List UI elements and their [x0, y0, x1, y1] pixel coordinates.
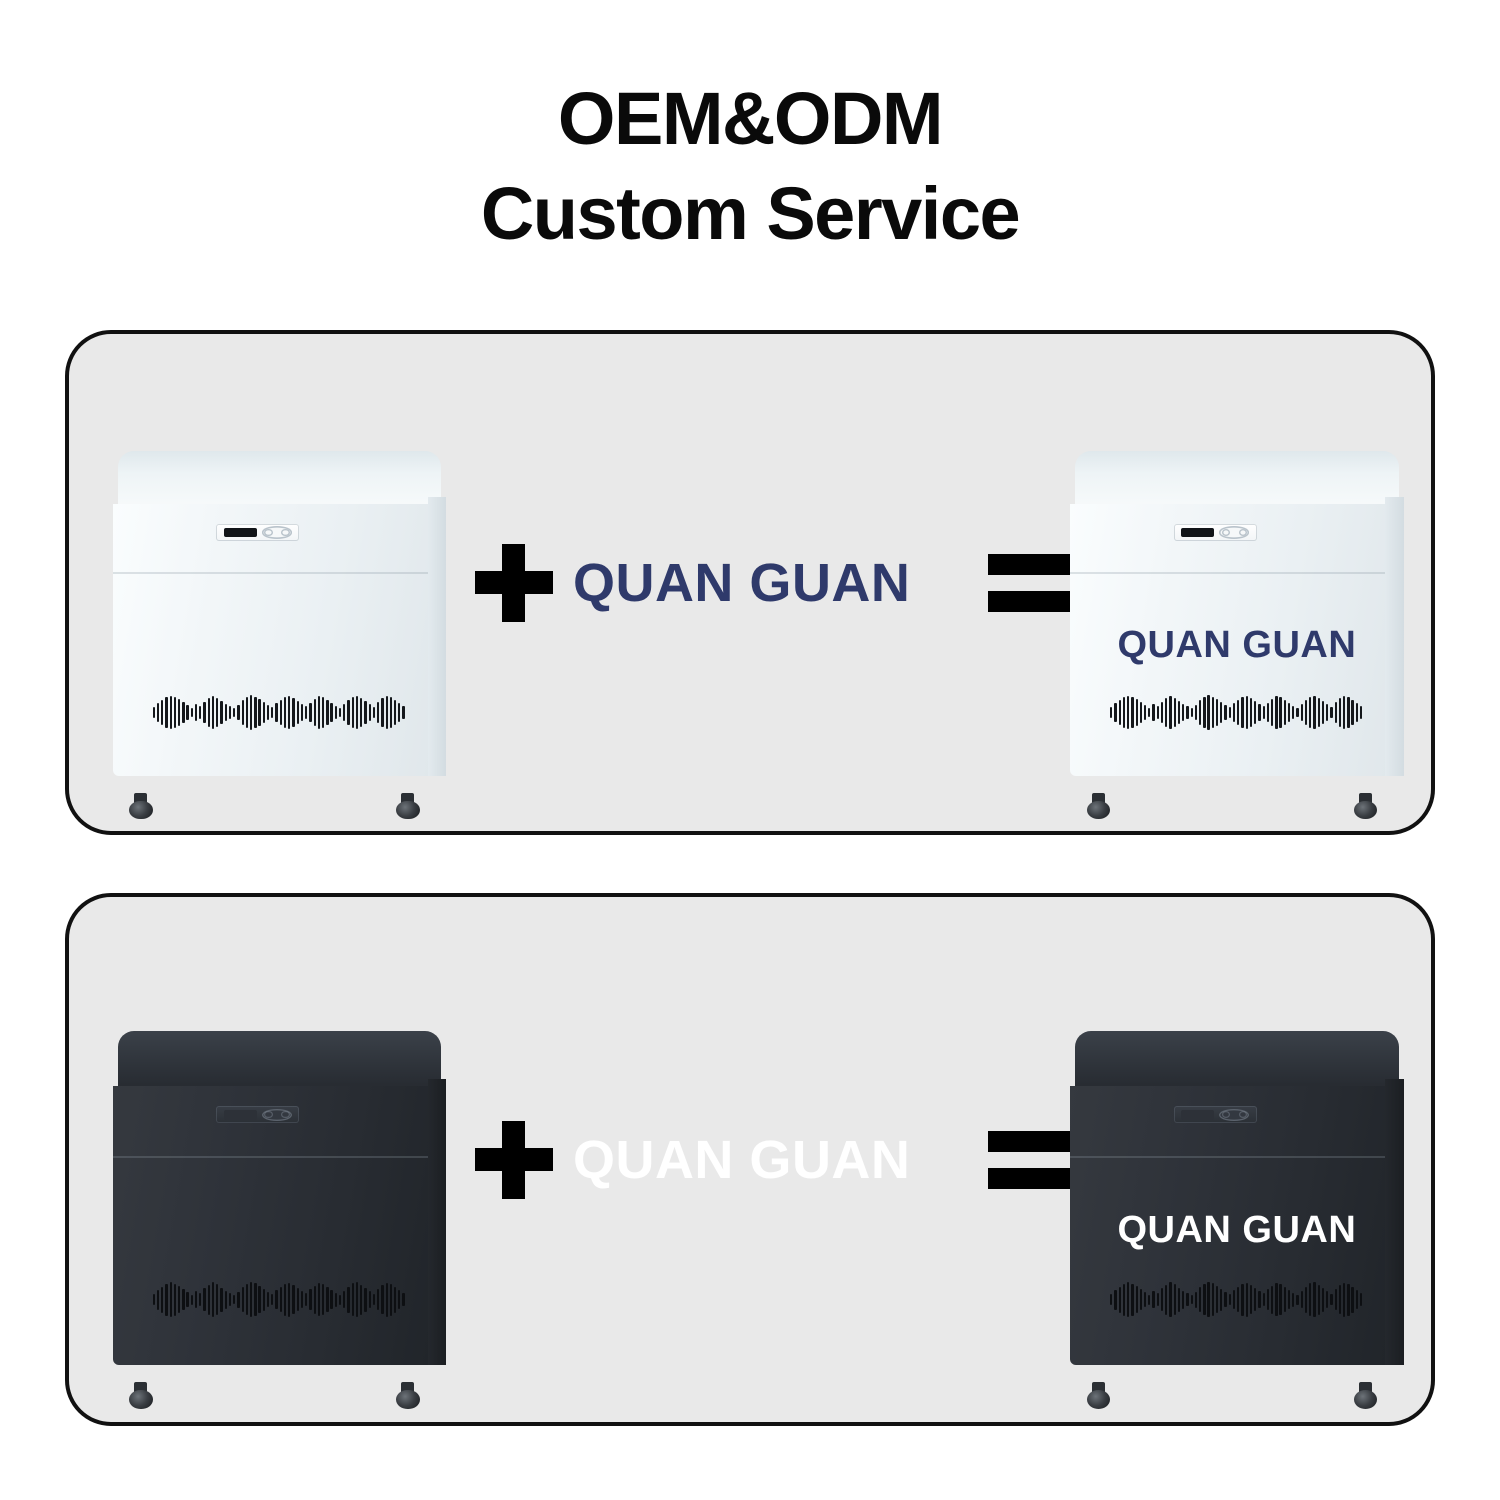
plus-icon [475, 1121, 553, 1199]
vent-slot [165, 697, 167, 728]
product-image-white-blank [113, 451, 447, 809]
lcd-display-icon [1181, 1110, 1214, 1120]
vent-slot [356, 696, 358, 730]
machine-seam-line [1070, 1156, 1404, 1158]
product-image-black-blank [113, 1031, 447, 1399]
plus-icon [475, 544, 553, 622]
title-line-primary: OEM&ODM [0, 72, 1500, 167]
vent-slot [330, 703, 332, 722]
vent-slot [1144, 1292, 1146, 1307]
machine-seam-line [113, 1156, 447, 1158]
vent-slot [1275, 1283, 1277, 1316]
vent-slot [1275, 696, 1277, 729]
vent-slot [1250, 1285, 1252, 1314]
vent-slot [242, 1287, 244, 1312]
vent-slot [1224, 705, 1226, 720]
vent-slot [394, 700, 396, 725]
vent-slot [1110, 1294, 1112, 1305]
vent-slot [263, 1289, 265, 1311]
vent-slot [347, 700, 349, 725]
machine-front-face: QUAN GUAN [1070, 504, 1404, 776]
machine-seam-line [113, 572, 447, 574]
vent-slot [1186, 1293, 1188, 1306]
vent-slot [186, 705, 188, 719]
vent-slot [305, 706, 307, 718]
vent-slot [246, 1284, 248, 1315]
machine-side-face [1385, 497, 1403, 776]
vent-slot [369, 1291, 371, 1308]
vent-slot [157, 703, 159, 722]
caster-wheel-icon [1087, 793, 1110, 820]
vent-slot [1165, 698, 1167, 727]
vent-slot [1114, 1290, 1116, 1310]
lcd-display-icon [224, 1110, 257, 1120]
vent-slot [1241, 697, 1243, 728]
control-panel [216, 1106, 299, 1123]
vent-slot [356, 1282, 358, 1317]
vent-slot [1174, 698, 1176, 728]
vent-slot [322, 1284, 324, 1315]
vent-slot [398, 703, 400, 721]
vent-slot [191, 708, 193, 718]
vent-slot [1161, 702, 1163, 724]
vent-slot [225, 1291, 227, 1309]
vent-slot [1347, 1284, 1349, 1316]
vent-slot [373, 707, 375, 718]
vent-slot [229, 1293, 231, 1306]
vent-slot [1157, 706, 1159, 718]
vent-slot [390, 697, 392, 728]
control-panel [216, 524, 299, 541]
vent-slot [364, 701, 366, 724]
vent-slot [1119, 700, 1121, 725]
vent-slot [1288, 703, 1290, 722]
caster-wheel-icon [1354, 793, 1377, 820]
vent-slot [292, 698, 294, 726]
machine-lid [118, 1031, 442, 1090]
ventilation-grille-icon [1110, 695, 1364, 730]
vent-slot [1203, 1284, 1205, 1315]
vent-slot [153, 1294, 155, 1305]
product-variant-panel-black: QUAN GUAN QUAN GUAN [65, 893, 1435, 1426]
vent-slot [1296, 1295, 1298, 1305]
vent-slot [1305, 1287, 1307, 1313]
vent-slot [258, 1286, 260, 1314]
product-variant-panel-white: QUAN GUAN QUAN GUAN [65, 330, 1435, 835]
vent-slot [1330, 1294, 1332, 1306]
vent-slot [1157, 1293, 1159, 1305]
vent-slot [381, 1285, 383, 1314]
vent-slot [225, 704, 227, 722]
vent-slot [250, 695, 252, 730]
vent-slot [1220, 1289, 1222, 1311]
vent-slot [301, 1291, 303, 1308]
vent-slot [1182, 1291, 1184, 1309]
vent-slot [373, 1294, 375, 1306]
vent-slot [322, 697, 324, 727]
caster-wheel-icon [396, 1382, 419, 1410]
vent-slot [288, 696, 290, 729]
vent-slot [1284, 1287, 1286, 1312]
vent-slot [1351, 1287, 1353, 1313]
vent-slot [199, 1293, 201, 1305]
keypad-icon [262, 1109, 292, 1121]
vent-slot [1347, 697, 1349, 728]
vent-slot [284, 1284, 286, 1316]
vent-slot [182, 702, 184, 722]
vent-slot [174, 697, 176, 728]
machine-side-face [428, 497, 446, 776]
vent-slot [1191, 708, 1193, 717]
vent-slot [352, 697, 354, 729]
vent-slot [1136, 699, 1138, 725]
vent-slot [1305, 700, 1307, 725]
vent-slot [1254, 1288, 1256, 1311]
vent-slot [1182, 704, 1184, 722]
vent-slot [216, 1284, 218, 1314]
vent-slot [1263, 706, 1265, 718]
vent-slot [352, 1283, 354, 1316]
vent-slot [1258, 1291, 1260, 1308]
vent-slot [1263, 1293, 1265, 1305]
vent-slot [233, 1295, 235, 1304]
vent-slot [1271, 1286, 1273, 1314]
machine-front-face: QUAN GUAN [1070, 1086, 1404, 1365]
vent-slot [1356, 703, 1358, 721]
vent-slot [292, 1285, 294, 1314]
vent-slot [186, 1292, 188, 1307]
vent-slot [343, 704, 345, 721]
vent-slot [170, 1282, 172, 1317]
vent-slot [1161, 1288, 1163, 1311]
vent-slot [1169, 1282, 1171, 1316]
vent-slot [1123, 697, 1125, 728]
vent-slot [1309, 1283, 1311, 1316]
vent-slot [267, 1292, 269, 1307]
vent-slot [1279, 697, 1281, 727]
vent-slot [1279, 1284, 1281, 1315]
vent-slot [297, 1288, 299, 1311]
ventilation-grille-icon [153, 1282, 407, 1318]
vent-slot [1309, 697, 1311, 729]
vent-slot [267, 705, 269, 720]
vent-slot [174, 1284, 176, 1316]
vent-slot [377, 1289, 379, 1310]
vent-slot [1229, 1294, 1231, 1305]
vent-slot [1335, 702, 1337, 722]
vent-slot [284, 697, 286, 728]
vent-slot [220, 701, 222, 724]
vent-slot [1313, 696, 1315, 730]
vent-slot [1301, 704, 1303, 721]
vent-slot [1140, 1289, 1142, 1310]
vent-slot [246, 697, 248, 727]
vent-slot [1199, 1287, 1201, 1312]
vent-slot [237, 705, 239, 721]
vent-slot [1178, 701, 1180, 724]
vent-slot [1313, 1282, 1315, 1317]
vent-slot [1207, 1282, 1209, 1318]
vent-slot [208, 698, 210, 727]
vent-slot [1292, 1293, 1294, 1307]
vent-slot [1224, 1292, 1226, 1307]
vent-slot [161, 700, 163, 725]
vent-slot [402, 1293, 404, 1306]
vent-slot [305, 1293, 307, 1305]
vent-slot [1216, 1286, 1218, 1314]
vent-slot [208, 1285, 210, 1315]
vent-slot [1114, 703, 1116, 722]
vent-slot [390, 1284, 392, 1316]
vent-slot [1148, 1295, 1150, 1305]
vent-slot [386, 1283, 388, 1317]
page-title: OEM&ODM Custom Service [0, 72, 1500, 261]
vent-slot [280, 700, 282, 725]
vent-slot [394, 1287, 396, 1313]
vent-slot [170, 696, 172, 730]
vent-slot [309, 1289, 311, 1309]
vent-slot [280, 1287, 282, 1312]
vent-slot [1152, 1291, 1154, 1308]
vent-slot [1191, 1295, 1193, 1304]
equals-icon [988, 1129, 1074, 1191]
product-image-black-branded: QUAN GUAN [1070, 1031, 1404, 1399]
vent-slot [1284, 700, 1286, 725]
vent-slot [1339, 698, 1341, 726]
lcd-display-icon [1181, 528, 1214, 537]
vent-slot [1237, 1287, 1239, 1312]
machine-lid [118, 451, 442, 508]
vent-slot [1301, 1291, 1303, 1308]
title-line-secondary: Custom Service [0, 167, 1500, 262]
vent-slot [288, 1283, 290, 1317]
vent-slot [1288, 1290, 1290, 1310]
vent-slot [1165, 1285, 1167, 1315]
vent-slot [1326, 704, 1328, 720]
vent-slot [1246, 696, 1248, 729]
vent-slot [1326, 1291, 1328, 1308]
vent-slot [1360, 706, 1362, 719]
vent-slot [347, 1287, 349, 1313]
vent-slot [1195, 705, 1197, 721]
vent-slot [242, 700, 244, 724]
vent-slot [326, 1287, 328, 1312]
vent-slot [1169, 696, 1171, 730]
vent-slot [258, 699, 260, 726]
vent-slot [1152, 704, 1154, 720]
vent-slot [178, 1286, 180, 1313]
vent-slot [275, 703, 277, 721]
vent-slot [233, 708, 235, 717]
vent-slot [301, 704, 303, 721]
keypad-icon [1219, 1109, 1249, 1121]
vent-slot [250, 1282, 252, 1318]
vent-slot [1195, 1292, 1197, 1308]
equals-icon [988, 552, 1074, 614]
vent-slot [1207, 695, 1209, 730]
vent-slot [339, 708, 341, 718]
lcd-display-icon [224, 528, 257, 537]
vent-slot [254, 697, 256, 729]
vent-slot [1296, 708, 1298, 718]
vent-slot [1110, 707, 1112, 718]
vent-slot [309, 703, 311, 723]
vent-slot [161, 1287, 163, 1313]
vent-slot [1140, 702, 1142, 722]
vent-slot [1339, 1285, 1341, 1314]
vent-slot [254, 1283, 256, 1316]
vent-slot [1174, 1284, 1176, 1314]
vent-slot [195, 704, 197, 720]
vent-slot [229, 706, 231, 719]
vent-slot [335, 706, 337, 719]
machine-side-face [1385, 1079, 1403, 1366]
vent-slot [297, 701, 299, 724]
caster-wheel-icon [129, 793, 152, 820]
vent-slot [1330, 707, 1332, 718]
vent-slot [220, 1288, 222, 1312]
vent-slot [1233, 1290, 1235, 1309]
vent-slot [386, 696, 388, 729]
vent-slot [165, 1284, 167, 1316]
vent-slot [318, 1283, 320, 1316]
vent-slot [1127, 1282, 1129, 1317]
vent-slot [1136, 1286, 1138, 1313]
vent-slot [212, 696, 214, 730]
vent-slot [1322, 1288, 1324, 1312]
vent-slot [1318, 1285, 1320, 1315]
ventilation-grille-icon [1110, 1282, 1364, 1318]
vent-slot [275, 1290, 277, 1309]
vent-slot [369, 704, 371, 720]
vent-slot [1360, 1293, 1362, 1306]
vent-slot [360, 698, 362, 727]
caster-wheel-icon [396, 793, 419, 820]
vent-slot [1237, 700, 1239, 725]
vent-slot [191, 1295, 193, 1305]
vent-slot [182, 1289, 184, 1310]
vent-slot [360, 1285, 362, 1315]
vent-slot [402, 706, 404, 719]
vent-slot [1131, 1284, 1133, 1316]
machine-lid [1075, 1031, 1399, 1090]
vent-slot [1127, 696, 1129, 730]
vent-slot [263, 702, 265, 723]
vent-slot [199, 706, 201, 718]
printed-brand-label: QUAN GUAN [1070, 1209, 1404, 1252]
vent-slot [1123, 1284, 1125, 1316]
machine-front-face [113, 1086, 447, 1365]
vent-slot [271, 707, 273, 718]
vent-slot [203, 702, 205, 724]
vent-slot [1144, 705, 1146, 719]
vent-slot [1343, 1283, 1345, 1317]
vent-slot [1233, 703, 1235, 721]
vent-slot [1212, 1283, 1214, 1316]
printed-brand-label: QUAN GUAN [1070, 624, 1404, 667]
vent-slot [178, 699, 180, 725]
vent-slot [1267, 1289, 1269, 1309]
vent-slot [153, 707, 155, 718]
vent-slot [1178, 1288, 1180, 1312]
vent-slot [1271, 699, 1273, 727]
brand-wordmark-navy: QUAN GUAN [573, 552, 911, 614]
control-panel [1174, 524, 1257, 541]
vent-slot [330, 1290, 332, 1310]
vent-slot [314, 699, 316, 727]
vent-slot [1246, 1283, 1248, 1317]
vent-slot [1250, 698, 1252, 726]
vent-slot [1241, 1284, 1243, 1316]
vent-slot [318, 696, 320, 729]
keypad-icon [1219, 526, 1249, 538]
vent-slot [1254, 701, 1256, 724]
vent-slot [1318, 698, 1320, 727]
brand-wordmark-white: QUAN GUAN [573, 1129, 911, 1191]
keypad-icon [262, 526, 292, 538]
product-image-white-branded: QUAN GUAN [1070, 451, 1404, 809]
vent-slot [335, 1293, 337, 1307]
vent-slot [1220, 702, 1222, 723]
vent-slot [381, 698, 383, 726]
vent-slot [314, 1286, 316, 1314]
vent-slot [1229, 707, 1231, 718]
vent-slot [364, 1288, 366, 1312]
vent-slot [1267, 703, 1269, 723]
machine-lid [1075, 451, 1399, 508]
vent-slot [339, 1295, 341, 1305]
caster-wheel-icon [1354, 1382, 1377, 1410]
machine-seam-line [1070, 572, 1404, 574]
vent-slot [1292, 706, 1294, 719]
vent-slot [1335, 1289, 1337, 1310]
vent-slot [1258, 704, 1260, 721]
vent-slot [237, 1292, 239, 1308]
vent-slot [1216, 699, 1218, 726]
vent-slot [1343, 696, 1345, 729]
vent-slot [1351, 700, 1353, 725]
control-panel [1174, 1106, 1257, 1123]
vent-slot [1119, 1287, 1121, 1313]
machine-side-face [428, 1079, 446, 1366]
vent-slot [203, 1288, 205, 1311]
vent-slot [195, 1291, 197, 1308]
vent-slot [1131, 697, 1133, 728]
caster-wheel-icon [1087, 1382, 1110, 1410]
vent-slot [398, 1290, 400, 1309]
vent-slot [343, 1291, 345, 1308]
vent-slot [377, 702, 379, 722]
vent-slot [1199, 700, 1201, 724]
ventilation-grille-icon [153, 695, 407, 730]
vent-slot [1148, 708, 1150, 718]
machine-front-face [113, 504, 447, 776]
vent-slot [1356, 1290, 1358, 1309]
vent-slot [212, 1282, 214, 1316]
vent-slot [271, 1294, 273, 1305]
vent-slot [1203, 697, 1205, 727]
vent-slot [1212, 697, 1214, 729]
vent-slot [1186, 706, 1188, 719]
vent-slot [157, 1290, 159, 1310]
vent-slot [326, 700, 328, 725]
vent-slot [1322, 701, 1324, 724]
caster-wheel-icon [129, 1382, 152, 1410]
vent-slot [216, 698, 218, 728]
